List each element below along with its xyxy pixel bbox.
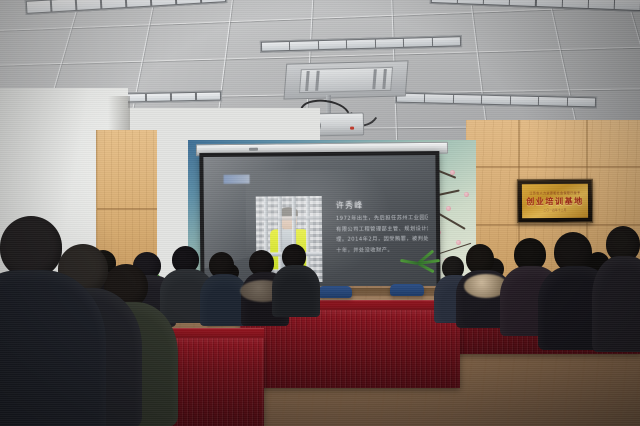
plaque-top-line: 江苏省人力资源和社会保障厅授予 bbox=[529, 190, 580, 194]
plaque-bottom-line: 二〇一四年十二月 bbox=[543, 207, 566, 211]
conference-room-photo: 许秀峰 1972年出生，先后担任苏州工业园区科技发展 有限公司工程管理部主管、规… bbox=[0, 0, 640, 426]
potted-palm-plant bbox=[400, 246, 440, 276]
projector-power-led bbox=[350, 127, 354, 130]
chair bbox=[390, 284, 424, 296]
wall-plaque: 江苏省人力资源和社会保障厅授予 创业培训基地 二〇一四年十二月 bbox=[517, 179, 593, 224]
plaque-main-text: 创业培训基地 bbox=[526, 195, 584, 206]
chair bbox=[318, 286, 352, 298]
